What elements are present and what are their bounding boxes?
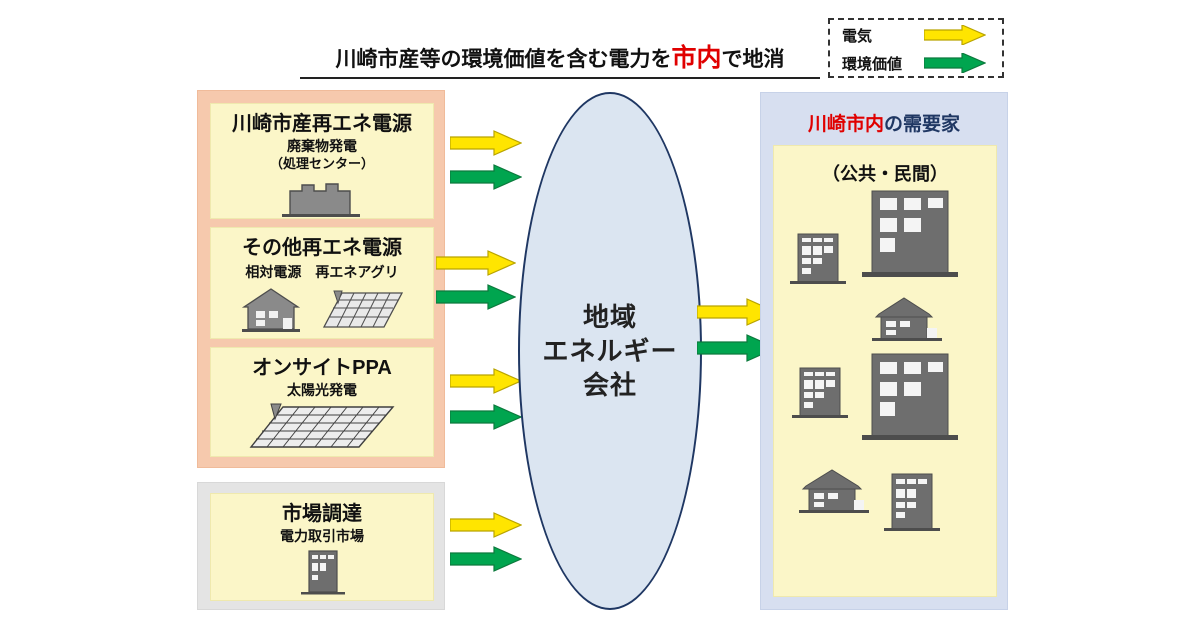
demand-panel: 川崎市内の需要家 （公共・民間） (760, 92, 1008, 610)
demand-panel-title: 川崎市内の需要家 (761, 109, 1007, 136)
demand-subtitle: （公共・民間） (774, 160, 996, 186)
arrow-electricity-source1 (450, 130, 522, 161)
title-suffix: で地消 (722, 48, 785, 71)
factory-icon (276, 175, 368, 217)
legend: 電気 環境価値 (828, 18, 1004, 78)
arrow-environment-source2 (436, 284, 516, 315)
source-box-sub-right: 再エネアグリ (315, 262, 398, 282)
source-box-other-renewable[interactable]: その他再エネ電源 相対電源 再エネアグリ (210, 227, 434, 339)
arrow-electricity-market (450, 512, 522, 543)
page-title: 川崎市産等の環境価値を含む電力を市内で地消 (300, 38, 820, 79)
hub-label: 地域 エネルギー 会社 (542, 300, 677, 403)
demand-title-rest: の需要家 (884, 114, 960, 135)
source-box-sub1: 廃棄物発電 (211, 138, 433, 154)
house-wide-icon (872, 298, 942, 341)
legend-row-environment: 環境価値 (830, 50, 1002, 76)
arrow-environment-market (450, 546, 522, 577)
market-box-icons (211, 547, 433, 595)
source-box-title: 川崎市産再エネ電源 (211, 113, 433, 135)
legend-label-environment: 環境価値 (842, 53, 924, 74)
solar-panel-icon (320, 285, 406, 333)
medium-building-icon (792, 368, 848, 418)
house-icon (238, 285, 304, 333)
solar-panel-icon (247, 401, 397, 451)
tall-building-icon (862, 191, 958, 277)
demand-title-highlight: 川崎市内 (808, 114, 884, 135)
demand-buildings-group (784, 186, 989, 586)
hub-label-line3: 会社 (542, 368, 677, 402)
diagram-canvas: 川崎市産等の環境価値を含む電力を市内で地消 電気 環境価値 川崎市産再エネ電源 (0, 0, 1200, 630)
large-building-icon (862, 354, 958, 440)
title-prefix: 川崎市産等の環境価値を含む電力を (335, 48, 671, 71)
yellow-arrow-icon (924, 25, 986, 45)
source-box-sub2: （処理センター） (211, 157, 433, 172)
arrow-electricity-source2 (436, 250, 516, 281)
small-building-icon (790, 234, 846, 284)
market-box-title: 市場調達 (211, 503, 433, 525)
narrow-building-icon (884, 474, 940, 531)
green-arrow-icon (924, 53, 986, 73)
source-box-title: オンサイトPPA (211, 357, 433, 379)
regional-energy-company-node[interactable]: 地域 エネルギー 会社 (518, 92, 702, 610)
source-box-icons (211, 285, 433, 333)
arrow-environment-source3 (450, 404, 522, 435)
source-box-icons (211, 401, 433, 451)
source-box-icons (211, 175, 433, 217)
market-box-sub: 電力取引市場 (211, 528, 433, 544)
source-box-onsite-ppa[interactable]: オンサイトPPA 太陽光発電 (210, 347, 434, 457)
source-box-kawasaki-renewable[interactable]: 川崎市産再エネ電源 廃棄物発電 （処理センター） (210, 103, 434, 219)
demand-inner-box: （公共・民間） (773, 145, 997, 597)
hub-label-line2: エネルギー (542, 334, 677, 368)
source-box-sub-left: 相対電源 (245, 262, 301, 282)
source-box-title: その他再エネ電源 (211, 237, 433, 259)
hub-label-line1: 地域 (542, 300, 677, 334)
source-box-sublabels: 相対電源 再エネアグリ (211, 262, 433, 282)
source-box-sub1: 太陽光発電 (211, 382, 433, 398)
source-box-market[interactable]: 市場調達 電力取引市場 (210, 493, 434, 601)
office-building-icon (287, 547, 357, 595)
legend-label-electricity: 電気 (842, 25, 924, 46)
legend-row-electricity: 電気 (830, 22, 1002, 48)
energy-sources-panel: 川崎市産再エネ電源 廃棄物発電 （処理センター） その他再エネ電源 相対電源 再… (197, 90, 445, 468)
market-panel: 市場調達 電力取引市場 (197, 482, 445, 610)
title-highlight: 市内 (671, 44, 721, 72)
arrow-environment-source1 (450, 164, 522, 195)
arrow-electricity-source3 (450, 368, 522, 399)
house-small-icon (799, 470, 869, 513)
